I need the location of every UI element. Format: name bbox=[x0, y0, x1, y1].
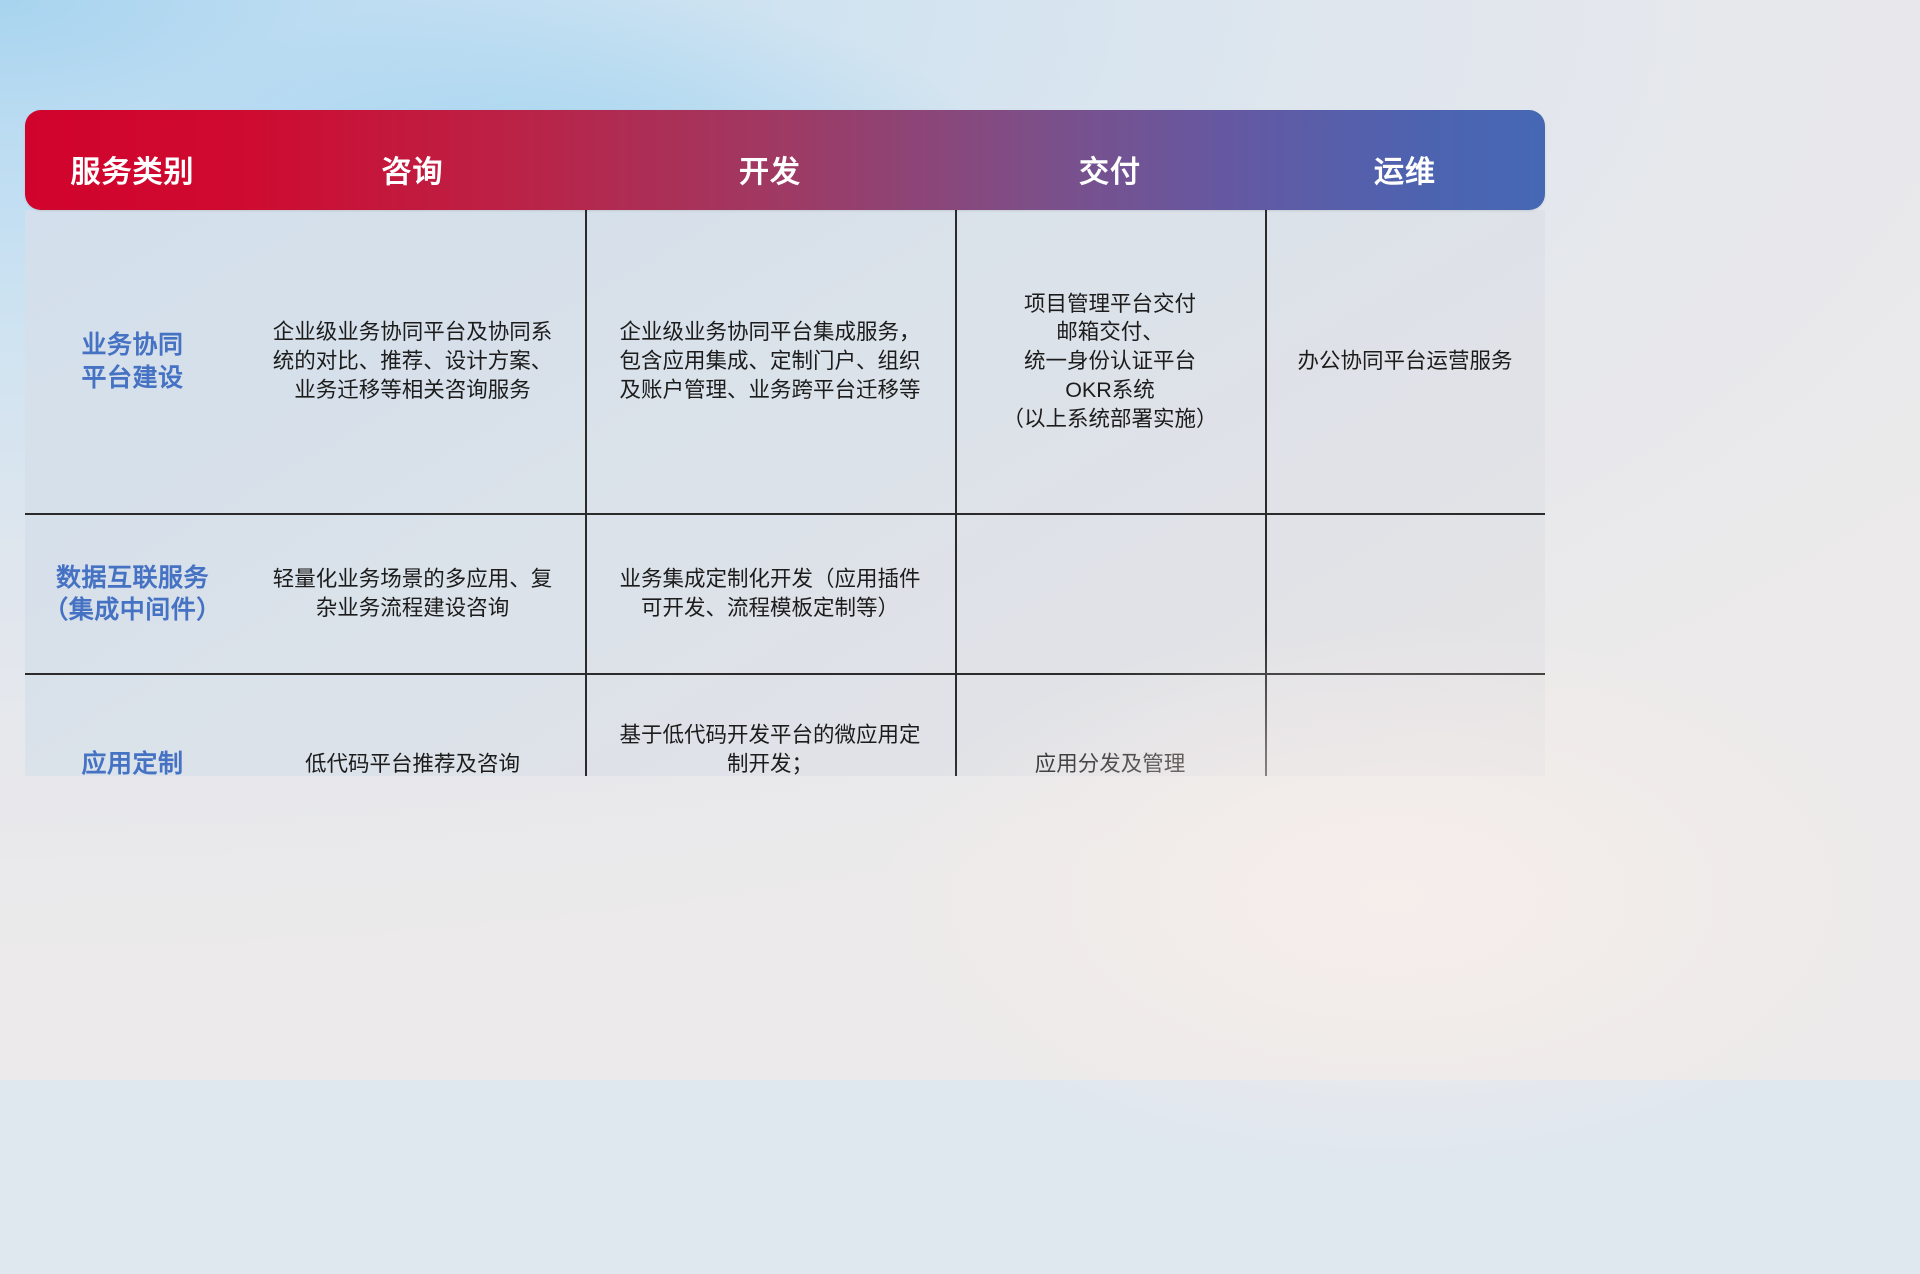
column-header-consulting: 咨询 bbox=[240, 158, 585, 210]
cell-text: 应用分发及管理 bbox=[1035, 750, 1186, 776]
slide-canvas: 服务类别 咨询 开发 交付 运维 业务协同 平台建设 企业级业务协同平台及协同系… bbox=[0, 0, 1920, 1080]
row-delivery-cell: 项目管理平台交付 邮箱交付、 统一身份认证平台 OKR系统 （以上系统部署实施） bbox=[955, 210, 1265, 513]
row-operations-cell: 办公协同平台运营服务 bbox=[1265, 210, 1545, 513]
cell-text: 低代码平台推荐及咨询 bbox=[305, 750, 520, 776]
row-development-cell: 业务集成定制化开发（应用插件 可开发、流程模板定制等） bbox=[585, 515, 955, 673]
service-matrix-table: 服务类别 咨询 开发 交付 运维 业务协同 平台建设 企业级业务协同平台及协同系… bbox=[25, 110, 1545, 776]
column-header-service-category: 服务类别 bbox=[25, 158, 240, 210]
row-consulting-cell: 轻量化业务场景的多应用、复 杂业务流程建设咨询 bbox=[240, 515, 585, 673]
row-category-cell: 数据互联服务 （集成中间件） bbox=[25, 515, 240, 673]
table-row: 业务协同 平台建设 企业级业务协同平台及协同系 统的对比、推荐、设计方案、 业务… bbox=[25, 210, 1545, 513]
row-consulting-cell: 企业级业务协同平台及协同系 统的对比、推荐、设计方案、 业务迁移等相关咨询服务 bbox=[240, 210, 585, 513]
table-row: 数据互联服务 （集成中间件） 轻量化业务场景的多应用、复 杂业务流程建设咨询 业… bbox=[25, 513, 1545, 673]
row-operations-cell bbox=[1265, 675, 1545, 776]
row-category-label: 应用定制 bbox=[81, 748, 183, 776]
row-category-cell: 业务协同 平台建设 bbox=[25, 210, 240, 513]
cell-text: 项目管理平台交付 邮箱交付、 统一身份认证平台 OKR系统 （以上系统部署实施） bbox=[1002, 290, 1217, 434]
row-development-cell: 基于低代码开发平台的微应用定 制开发； 基于通过语言的微应用定制开发 bbox=[585, 675, 955, 776]
cell-text: 办公协同平台运营服务 bbox=[1297, 347, 1512, 376]
column-header-operations: 运维 bbox=[1265, 158, 1545, 210]
cell-text: 企业级业务协同平台及协同系 统的对比、推荐、设计方案、 业务迁移等相关咨询服务 bbox=[273, 318, 553, 404]
row-delivery-cell: 应用分发及管理 bbox=[955, 675, 1265, 776]
cell-text: 业务集成定制化开发（应用插件 可开发、流程模板定制等） bbox=[619, 565, 920, 623]
row-consulting-cell: 低代码平台推荐及咨询 bbox=[240, 675, 585, 776]
row-operations-cell bbox=[1265, 515, 1545, 673]
table-row: 应用定制 低代码平台推荐及咨询 基于低代码开发平台的微应用定 制开发； 基于通过… bbox=[25, 673, 1545, 776]
cell-text: 基于低代码开发平台的微应用定 制开发； 基于通过语言的微应用定制开发 bbox=[619, 721, 920, 776]
table-header-row: 服务类别 咨询 开发 交付 运维 bbox=[25, 110, 1545, 210]
column-header-development: 开发 bbox=[585, 158, 955, 210]
cell-text: 轻量化业务场景的多应用、复 杂业务流程建设咨询 bbox=[273, 565, 553, 623]
cell-text: 企业级业务协同平台集成服务， 包含应用集成、定制门户、组织 及账户管理、业务跨平… bbox=[619, 318, 920, 404]
table-body: 业务协同 平台建设 企业级业务协同平台及协同系 统的对比、推荐、设计方案、 业务… bbox=[25, 210, 1545, 776]
row-development-cell: 企业级业务协同平台集成服务， 包含应用集成、定制门户、组织 及账户管理、业务跨平… bbox=[585, 210, 955, 513]
column-header-delivery: 交付 bbox=[955, 158, 1265, 210]
row-category-label: 业务协同 平台建设 bbox=[81, 329, 183, 394]
row-category-cell: 应用定制 bbox=[25, 675, 240, 776]
row-category-label: 数据互联服务 （集成中间件） bbox=[43, 562, 222, 627]
row-delivery-cell bbox=[955, 515, 1265, 673]
